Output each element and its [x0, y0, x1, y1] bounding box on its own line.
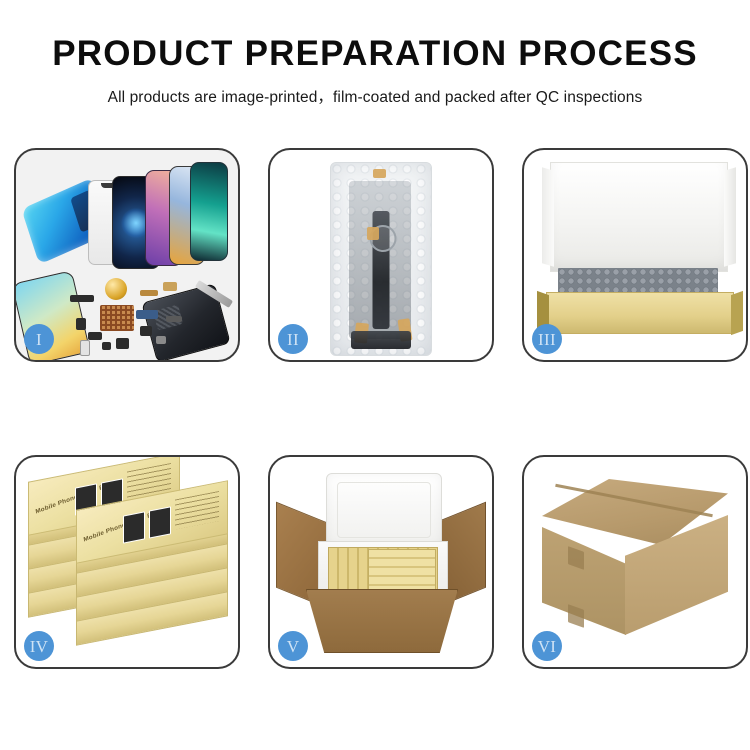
step-panel-3[interactable]: III [522, 148, 748, 362]
box-lid-icon [550, 162, 728, 272]
box-stack-icon: Mobile Phone Spare Parts Mobile Phone Sp… [24, 469, 232, 659]
step-panel-4[interactable]: Mobile Phone Spare Parts Mobile Phone Sp… [14, 455, 240, 669]
step-badge-5: V [278, 631, 308, 661]
process-row-top: I II I [0, 148, 750, 362]
wrapped-part-base-icon [351, 331, 411, 349]
speaker-icon [116, 338, 129, 349]
flex-cable-icon [140, 290, 158, 296]
tape-piece-icon [367, 227, 379, 240]
step-panel-2[interactable]: II [268, 148, 494, 362]
page-subtitle: All products are image-printed，film-coat… [0, 85, 750, 107]
vibration-motor-icon [105, 278, 127, 300]
small-part-icon [166, 316, 182, 322]
camera-module-icon [136, 310, 158, 319]
phone-display-teal-icon [190, 162, 228, 261]
step-badge-4: IV [24, 631, 54, 661]
step-panel-5[interactable]: V [268, 455, 494, 669]
process-grid: I II I [0, 148, 750, 669]
step-badge-1: I [24, 324, 54, 354]
small-part-icon [140, 326, 152, 336]
carton-front-panel-icon [306, 589, 458, 653]
yellow-boxes-row-icon [368, 549, 436, 591]
flex-cable-icon [163, 282, 177, 291]
carton-left-face-icon [542, 527, 626, 635]
step-panel-1[interactable]: I [14, 148, 240, 362]
page-title: PRODUCT PREPARATION PROCESS [0, 36, 750, 73]
small-part-icon [156, 336, 166, 344]
step-badge-2: II [278, 324, 308, 354]
battery-connector-icon [70, 295, 94, 302]
bubble-wrap-bag-icon [330, 162, 432, 356]
box-spec-lines-icon [175, 491, 219, 530]
box-window-icon [149, 506, 171, 538]
step-badge-3: III [532, 324, 562, 354]
foam-lid-icon [326, 473, 442, 547]
process-row-bottom: Mobile Phone Spare Parts Mobile Phone Sp… [0, 455, 750, 669]
step-panel-6[interactable]: VI [522, 455, 748, 669]
screw-tray-icon [100, 305, 134, 331]
sim-tray-icon [80, 340, 90, 356]
small-part-icon [88, 332, 102, 340]
page-header: PRODUCT PREPARATION PROCESS All products… [0, 0, 750, 107]
small-part-icon [102, 342, 111, 350]
step-badge-6: VI [532, 631, 562, 661]
yellow-box-tray-icon [546, 292, 734, 334]
tape-piece-icon [373, 169, 386, 178]
small-part-icon [76, 318, 86, 330]
box-window-icon [123, 511, 145, 543]
